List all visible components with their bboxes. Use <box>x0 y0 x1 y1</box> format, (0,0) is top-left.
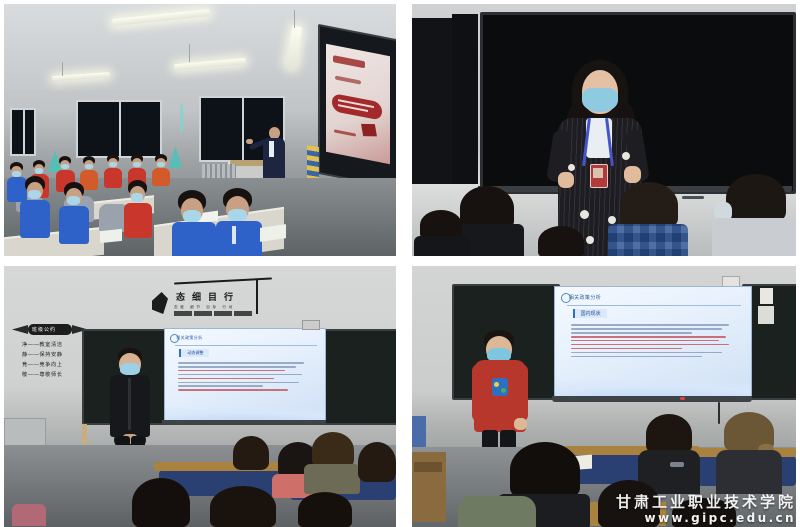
class-pledge-title: 班级公约 <box>32 326 56 333</box>
audience-member <box>662 498 748 527</box>
photo-collage: 态细目行 态度 细节 目标 行动 班级公约 净——教室清洁静——保持安静竞——竞… <box>0 0 800 527</box>
audience-member <box>588 480 670 527</box>
face-mask <box>582 88 618 112</box>
student <box>152 154 170 186</box>
hoodie <box>712 218 796 256</box>
slide-title: 相关政策分析 <box>176 335 202 341</box>
presentation-slide: 相关政策分析 动态调整 <box>164 328 326 422</box>
notice-paper <box>758 306 774 324</box>
student <box>104 154 122 188</box>
student <box>216 188 262 256</box>
audience-member <box>458 492 536 527</box>
power-indicator <box>680 397 685 400</box>
audience-member <box>530 226 592 256</box>
audience-member <box>304 432 360 494</box>
display-slide <box>326 44 390 164</box>
student <box>20 176 50 238</box>
window <box>76 100 162 158</box>
face-mask <box>120 363 140 375</box>
slide-badge: 国内现状 <box>573 309 607 318</box>
class-pledge-lines: 净——教室清洁静——保持安静竞——竞争向上敬——尊敬师长 <box>22 340 63 380</box>
student <box>59 182 89 244</box>
photo-bottom-right: 相关政策分析 国内现状 <box>412 266 796 527</box>
photo-top-left <box>4 4 396 256</box>
audience-member <box>414 210 470 256</box>
slide-badge: 动态调整 <box>179 349 209 357</box>
blackboard <box>320 329 396 425</box>
audience-member <box>228 436 274 482</box>
audience-member <box>712 174 796 256</box>
presentation-slide: 相关政策分析 国内现状 <box>554 286 752 398</box>
slide-title: 相关政策分析 <box>569 294 601 301</box>
class-pledge-poster: 班级公约 净——教室清洁静——保持安静竞——竞争向上敬——尊敬师长 <box>12 324 88 386</box>
photo-top-right <box>412 4 796 256</box>
student <box>172 190 216 256</box>
wall-calligraphy: 态细目行 态度 细节 目标 行动 <box>152 274 272 318</box>
audience-member <box>290 492 360 527</box>
photo-bottom-left: 态细目行 态度 细节 目标 行动 班级公约 净——教室清洁静——保持安静竞——竞… <box>4 266 396 527</box>
audience-member <box>200 486 286 527</box>
audience-member <box>122 478 200 527</box>
audience-member <box>608 182 688 256</box>
audience-member <box>354 442 396 502</box>
window <box>10 108 36 156</box>
plaid-shirt <box>608 224 688 256</box>
student <box>124 180 152 238</box>
audience-member <box>716 412 782 494</box>
notice-paper <box>760 288 773 304</box>
